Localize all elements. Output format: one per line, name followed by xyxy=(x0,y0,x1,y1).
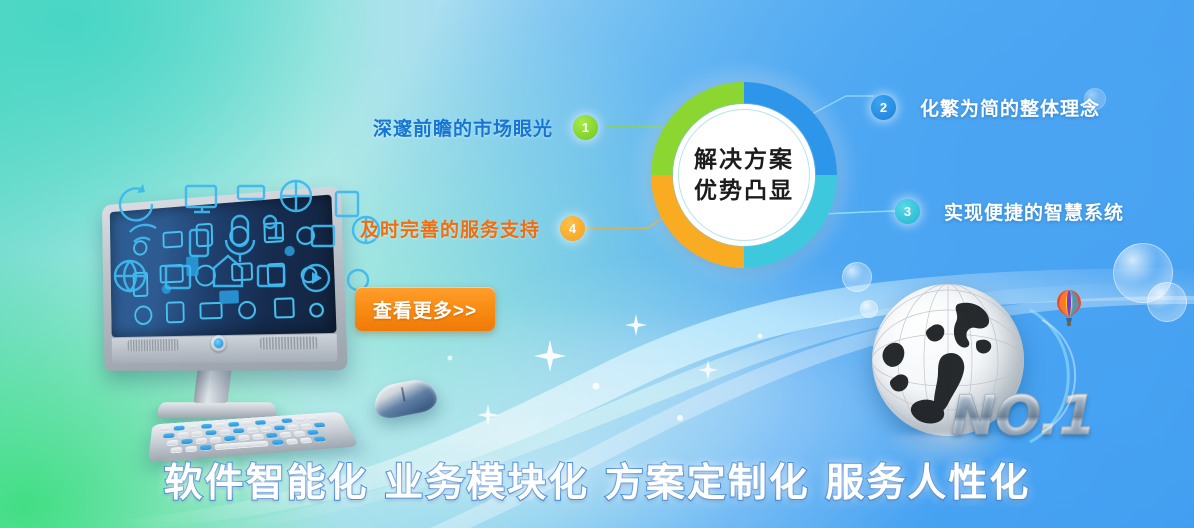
callout-3[interactable]: 3 实现便捷的智慧系统 xyxy=(895,198,1124,225)
speaker-left xyxy=(128,339,179,352)
bubble-tiny-c xyxy=(1084,88,1106,110)
callout-3-label: 实现便捷的智慧系统 xyxy=(944,198,1124,225)
callout-1-label: 深邃前瞻的市场眼光 xyxy=(373,114,553,141)
bubble-small xyxy=(1147,282,1187,322)
monitor-foot xyxy=(156,402,278,418)
monitor-body xyxy=(102,185,348,370)
bubble-tiny-a xyxy=(842,262,872,292)
callout-4[interactable]: 及时完善的服务支持 4 xyxy=(360,215,585,242)
solution-donut-chart: 解决方案 优势凸显 xyxy=(651,82,837,268)
callout-2[interactable]: 2 化繁为简的整体理念 xyxy=(871,94,1100,121)
callout-2-label: 化繁为简的整体理念 xyxy=(920,94,1100,121)
promo-banner: 解决方案 优势凸显 深邃前瞻的市场眼光 1 及时完善的服务支持 4 2 化繁为简… xyxy=(0,0,1194,528)
callout-1-badge: 1 xyxy=(573,115,598,140)
power-indicator xyxy=(211,335,227,351)
callout-3-badge: 3 xyxy=(895,199,920,224)
mouse-icon xyxy=(373,377,440,421)
callout-4-label: 及时完善的服务支持 xyxy=(360,215,540,242)
monitor-chin xyxy=(112,334,338,363)
screen-icon-cluster xyxy=(110,195,337,338)
bubble-tiny-b xyxy=(860,300,878,318)
banner-headline: 软件智能化 业务模块化 方案定制化 服务人性化 xyxy=(0,452,1194,508)
callout-4-badge: 4 xyxy=(560,216,585,241)
speaker-right xyxy=(260,336,318,349)
view-more-button[interactable]: 查看更多>> xyxy=(355,287,495,331)
no1-badge: NO.1 xyxy=(951,384,1095,447)
donut-center-line2: 优势凸显 xyxy=(694,178,794,203)
hot-air-balloon-icon xyxy=(1056,288,1082,328)
donut-center-text: 解决方案 优势凸显 xyxy=(651,82,837,268)
monitor-screen xyxy=(110,195,337,338)
callout-1[interactable]: 深邃前瞻的市场眼光 1 xyxy=(373,114,598,141)
callout-2-badge: 2 xyxy=(871,95,896,120)
donut-center-line1: 解决方案 xyxy=(694,147,794,172)
monitor-icon xyxy=(80,185,380,445)
